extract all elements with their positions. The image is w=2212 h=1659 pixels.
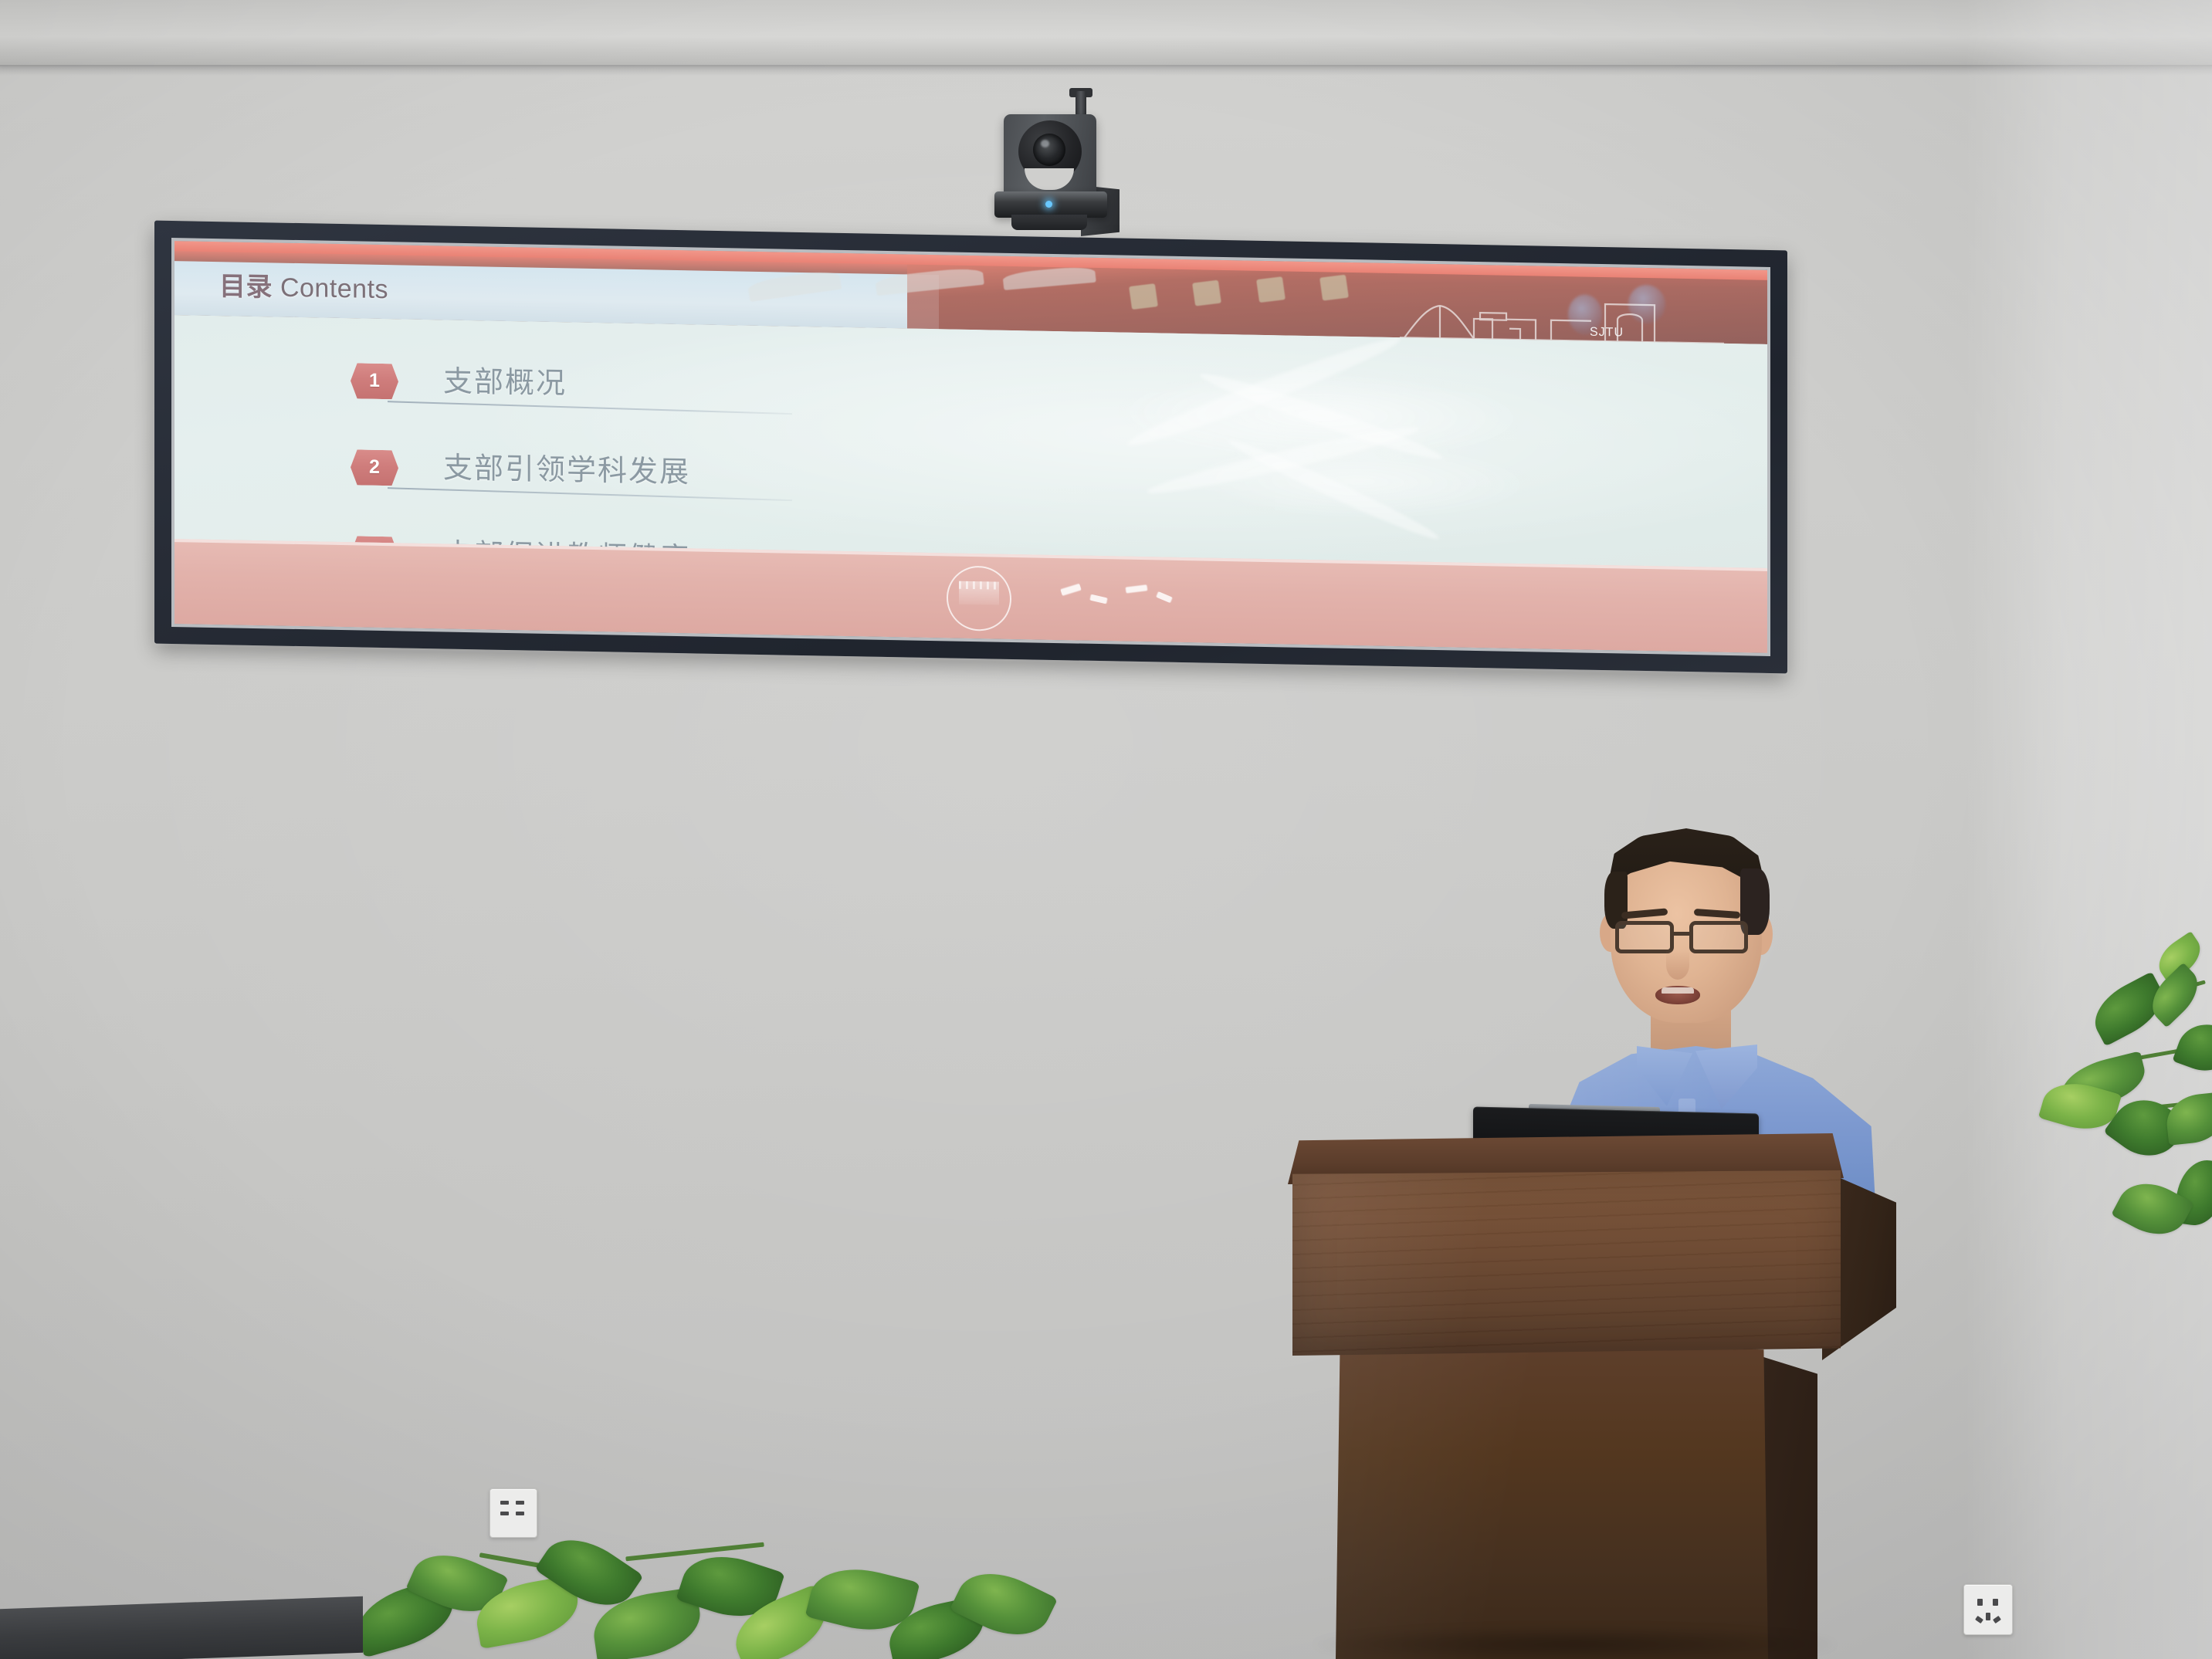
lectern <box>1282 1133 1899 1659</box>
toc-underline <box>388 401 792 415</box>
slide-title-en: Contents <box>280 273 388 305</box>
toc-label: 支部概况 <box>443 357 567 401</box>
toc-number: 1 <box>369 369 380 393</box>
projection-screen: SJTU 目录 Contents 1 <box>154 221 1787 674</box>
roof-tile <box>1319 275 1349 301</box>
socket-slot <box>1993 1599 1998 1606</box>
toc-underline <box>388 487 792 501</box>
ceiling-shadow <box>0 65 2212 76</box>
sjtu-skyline-icon <box>1400 283 1724 344</box>
ceiling-edge <box>0 0 2212 66</box>
toc-number-badge: 2 <box>351 449 398 486</box>
lectern-column <box>1336 1343 1768 1659</box>
wall-corner-highlight <box>1965 0 2212 1659</box>
slide-title-cn: 目录 <box>219 272 273 302</box>
camera-lens-icon <box>1033 134 1065 166</box>
toc-item[interactable]: 2 支部引领学科发展 <box>351 440 906 515</box>
watermark-stroke <box>1124 330 1404 454</box>
slide-watermark <box>1003 339 1640 557</box>
roof-tile <box>1192 280 1221 306</box>
watermark-stroke <box>1145 420 1421 501</box>
presenter-hair-side <box>1604 872 1628 929</box>
table-of-contents: 1 支部概况 2 支部引领学科发展 3 <box>351 354 906 568</box>
camera-lens-glint <box>1041 140 1049 147</box>
lectern-wood-grain <box>1292 1170 1841 1356</box>
toc-label: 支部引领学科发展 <box>443 443 690 490</box>
plant-leaf <box>2173 1016 2212 1079</box>
camera-status-led <box>1045 201 1052 208</box>
toc-number: 2 <box>369 455 380 479</box>
plant-stem <box>625 1542 764 1562</box>
glasses-lens-left <box>1615 921 1674 953</box>
footer-mark <box>1126 584 1148 593</box>
lectern-column-side <box>1759 1356 1817 1659</box>
sjtu-brand-text: SJTU <box>1590 326 1624 340</box>
glasses-bridge <box>1672 932 1691 936</box>
footer-emblem-icon <box>947 565 1011 631</box>
footer-mark <box>1156 591 1173 603</box>
presentation-room-scene: SJTU 目录 Contents 1 <box>0 0 2212 1659</box>
plant-leaf <box>2164 1092 2212 1146</box>
potted-plant-right <box>2034 916 2212 1248</box>
port-slot <box>500 1501 509 1505</box>
slide-body: 1 支部概况 2 支部引领学科发展 3 <box>174 315 1767 568</box>
potted-plant-foreground <box>347 1509 1058 1659</box>
toc-item[interactable]: 1 支部概况 <box>351 354 906 428</box>
camera-foot <box>1011 215 1087 230</box>
watermark-stroke <box>1226 433 1442 545</box>
socket-slot <box>1993 1616 2001 1623</box>
socket-slot <box>1975 1616 1983 1623</box>
socket-slot <box>1986 1613 1990 1620</box>
presenter-teeth <box>1662 987 1694 994</box>
wall-power-socket[interactable] <box>1963 1584 2013 1635</box>
toc-number-badge: 1 <box>351 363 398 399</box>
slide-title: 目录 Contents <box>219 265 388 306</box>
port-slot <box>516 1501 524 1505</box>
slide-canvas: SJTU 目录 Contents 1 <box>174 241 1767 653</box>
footer-mark <box>1089 594 1107 604</box>
footer-mark <box>1060 584 1082 596</box>
lectern-floor-shadow <box>1313 1627 1838 1659</box>
ptz-camera <box>982 91 1129 234</box>
glasses-lens-right <box>1689 921 1748 953</box>
presenter-nose <box>1666 950 1689 980</box>
watermark-stroke <box>1197 366 1445 466</box>
roof-tile <box>1129 283 1158 310</box>
socket-slot <box>1977 1599 1983 1606</box>
roof-tile <box>1256 276 1286 303</box>
